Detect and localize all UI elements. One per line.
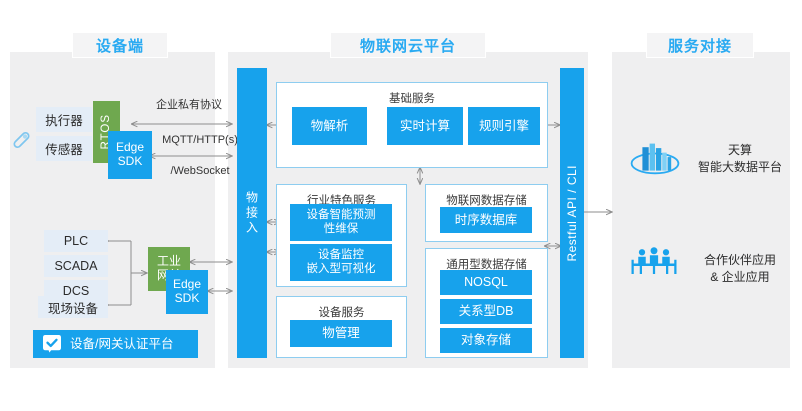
industrial-source-field-device[interactable]: 现场设备 bbox=[38, 296, 108, 318]
panel-title-service-integration: 服务对接 bbox=[646, 32, 754, 58]
check-icon bbox=[43, 335, 61, 353]
device-endpoint-sensor-label: 传感器 bbox=[45, 139, 83, 158]
edge-sdk-device-line1: Edge bbox=[116, 141, 144, 155]
storage-nosql[interactable]: NOSQL bbox=[440, 270, 532, 295]
device-endpoint-actuator[interactable]: 执行器 bbox=[36, 107, 92, 132]
industrial-source-scada-label: SCADA bbox=[54, 259, 97, 273]
storage-timeseries-db[interactable]: 时序数据库 bbox=[440, 207, 532, 233]
service-realtime-compute-label: 实时计算 bbox=[400, 119, 450, 133]
egress-api-label: Restful API / CLI bbox=[565, 165, 579, 262]
service-partner-apps-line1: 合作伙伴应用 bbox=[690, 252, 790, 269]
partners-icon bbox=[630, 246, 678, 278]
group-basic-service-caption: 基础服务 bbox=[277, 90, 547, 106]
group-device-service-caption: 设备服务 bbox=[277, 304, 406, 320]
big-data-platform-icon bbox=[628, 136, 682, 180]
industrial-source-plc[interactable]: PLC bbox=[44, 230, 108, 252]
storage-object-storage-label: 对象存储 bbox=[461, 333, 511, 347]
service-predictive-maintenance-line2: 性维保 bbox=[324, 223, 359, 236]
ingress-label: 物接入 bbox=[244, 191, 261, 236]
service-device-monitor-visualization[interactable]: 设备监控 嵌入型可视化 bbox=[290, 244, 392, 281]
service-thing-management-label: 物管理 bbox=[322, 326, 360, 340]
protocol-label-websocket: /WebSocket bbox=[152, 165, 248, 179]
service-big-data-platform[interactable]: 天算 智能大数据平台 bbox=[690, 142, 790, 177]
storage-relational-db-label: 关系型DB bbox=[459, 304, 514, 318]
panel-title-device-side: 设备端 bbox=[72, 32, 168, 58]
panel-service-integration bbox=[612, 52, 790, 368]
service-big-data-platform-line2: 智能大数据平台 bbox=[690, 159, 790, 176]
service-rule-engine-label: 规则引擎 bbox=[479, 119, 529, 133]
edge-sdk-gateway-line1: Edge bbox=[173, 278, 201, 292]
service-realtime-compute[interactable]: 实时计算 bbox=[387, 107, 463, 145]
diagram-canvas: 设备端 物联网云平台 服务对接 执行器 传感器 RTOS Edge SDK 企业… bbox=[0, 0, 802, 411]
auth-platform-label: 设备/网关认证平台 bbox=[70, 337, 173, 351]
service-thing-management[interactable]: 物管理 bbox=[290, 320, 392, 347]
service-predictive-maintenance[interactable]: 设备智能预测 性维保 bbox=[290, 204, 392, 241]
sensor-tag-icon bbox=[10, 126, 34, 150]
storage-relational-db[interactable]: 关系型DB bbox=[440, 299, 532, 324]
storage-object-storage[interactable]: 对象存储 bbox=[440, 328, 532, 353]
industrial-source-plc-label: PLC bbox=[64, 234, 88, 248]
ingress-bar[interactable]: 物接入 bbox=[237, 68, 267, 358]
protocol-label-private: 企业私有协议 bbox=[134, 99, 244, 113]
service-device-monitor-line1: 设备监控 bbox=[318, 249, 364, 262]
service-object-parse-label: 物解析 bbox=[311, 119, 349, 133]
auth-platform-bar[interactable]: 设备/网关认证平台 bbox=[33, 330, 198, 358]
edge-sdk-device-block[interactable]: Edge SDK bbox=[108, 131, 152, 179]
protocol-label-mqtt: MQTT/HTTP(s) bbox=[152, 134, 248, 148]
panel-title-cloud-platform: 物联网云平台 bbox=[330, 32, 486, 58]
industrial-source-scada[interactable]: SCADA bbox=[44, 255, 108, 277]
industrial-gateway-line1: 工业 bbox=[157, 255, 181, 269]
group-iot-storage-caption: 物联网数据存储 bbox=[426, 192, 547, 208]
storage-nosql-label: NOSQL bbox=[464, 275, 508, 289]
service-object-parse[interactable]: 物解析 bbox=[292, 107, 367, 145]
service-device-monitor-line2: 嵌入型可视化 bbox=[307, 263, 376, 276]
industrial-source-field-device-label: 现场设备 bbox=[48, 298, 98, 317]
storage-timeseries-db-label: 时序数据库 bbox=[455, 213, 518, 227]
service-predictive-maintenance-line1: 设备智能预测 bbox=[307, 209, 376, 222]
edge-sdk-gateway-line2: SDK bbox=[175, 292, 200, 306]
service-rule-engine[interactable]: 规则引擎 bbox=[468, 107, 540, 145]
egress-api-bar[interactable]: Restful API / CLI bbox=[560, 68, 584, 358]
edge-sdk-gateway-block[interactable]: Edge SDK bbox=[166, 270, 208, 314]
service-partner-apps[interactable]: 合作伙伴应用 & 企业应用 bbox=[690, 252, 790, 287]
device-endpoint-actuator-label: 执行器 bbox=[45, 110, 83, 129]
service-big-data-platform-line1: 天算 bbox=[690, 142, 790, 159]
device-endpoint-sensor[interactable]: 传感器 bbox=[36, 136, 92, 161]
service-partner-apps-line2: & 企业应用 bbox=[690, 269, 790, 286]
edge-sdk-device-line2: SDK bbox=[118, 155, 143, 169]
